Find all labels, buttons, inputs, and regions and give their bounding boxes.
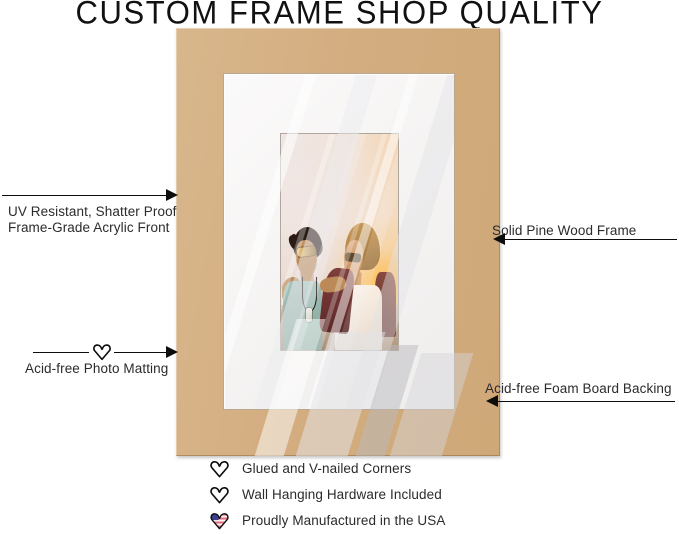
- photo-man-pendant: [306, 308, 312, 322]
- feature-label: Wall Hanging Hardware Included: [242, 487, 442, 502]
- feature-item-usa: Proudly Manufactured in the USA: [209, 508, 529, 532]
- photo-image: [281, 134, 398, 350]
- feature-label: Glued and V-nailed Corners: [242, 461, 411, 476]
- callout-line-pine: [505, 239, 677, 240]
- photo-woman-sunglasses: [344, 252, 361, 262]
- feature-label: Proudly Manufactured in the USA: [242, 513, 445, 528]
- heart-icon: [92, 342, 112, 361]
- heart-icon: [209, 459, 230, 478]
- callout-label-foam: Acid-free Foam Board Backing: [485, 381, 672, 397]
- frame-inner-lip: [223, 73, 455, 410]
- callout-line-matting-right: [114, 352, 168, 353]
- callout-label-foam-line1: Acid-free Foam Board Backing: [485, 381, 672, 397]
- heart-flag-icon: [209, 511, 230, 530]
- feature-list: Glued and V-nailed Corners Wall Hanging …: [209, 456, 529, 534]
- mat-window: [280, 133, 399, 351]
- callout-arrowhead-matting: [166, 346, 178, 358]
- callout-label-acrylic-line2: Frame-Grade Acrylic Front: [8, 220, 177, 236]
- callout-label-matting-line1: Acid-free Photo Matting: [25, 361, 168, 377]
- callout-arrowhead-pine: [493, 233, 505, 245]
- callout-label-pine-line1: Solid Pine Wood Frame: [492, 223, 636, 239]
- callout-line-matting-left: [33, 352, 89, 353]
- feature-item-corners: Glued and V-nailed Corners: [209, 456, 529, 480]
- callout-label-matting: Acid-free Photo Matting: [25, 361, 168, 377]
- picture-frame: [176, 28, 500, 456]
- callout-line-acrylic: [2, 195, 168, 196]
- callout-arrowhead-acrylic: [166, 189, 178, 201]
- callout-label-acrylic: UV Resistant, Shatter Proof Frame-Grade …: [8, 204, 177, 236]
- heart-icon: [209, 485, 230, 504]
- infographic-canvas: CUSTOM FRAME SHOP QUALITY: [0, 0, 679, 530]
- photo-man-necklace: [302, 277, 317, 313]
- callout-arrowhead-foam: [486, 395, 498, 407]
- callout-line-foam: [498, 401, 675, 402]
- feature-item-hardware: Wall Hanging Hardware Included: [209, 482, 529, 506]
- callout-label-acrylic-line1: UV Resistant, Shatter Proof: [8, 204, 177, 220]
- callout-label-pine: Solid Pine Wood Frame: [492, 223, 636, 239]
- photo-mat: [224, 74, 454, 409]
